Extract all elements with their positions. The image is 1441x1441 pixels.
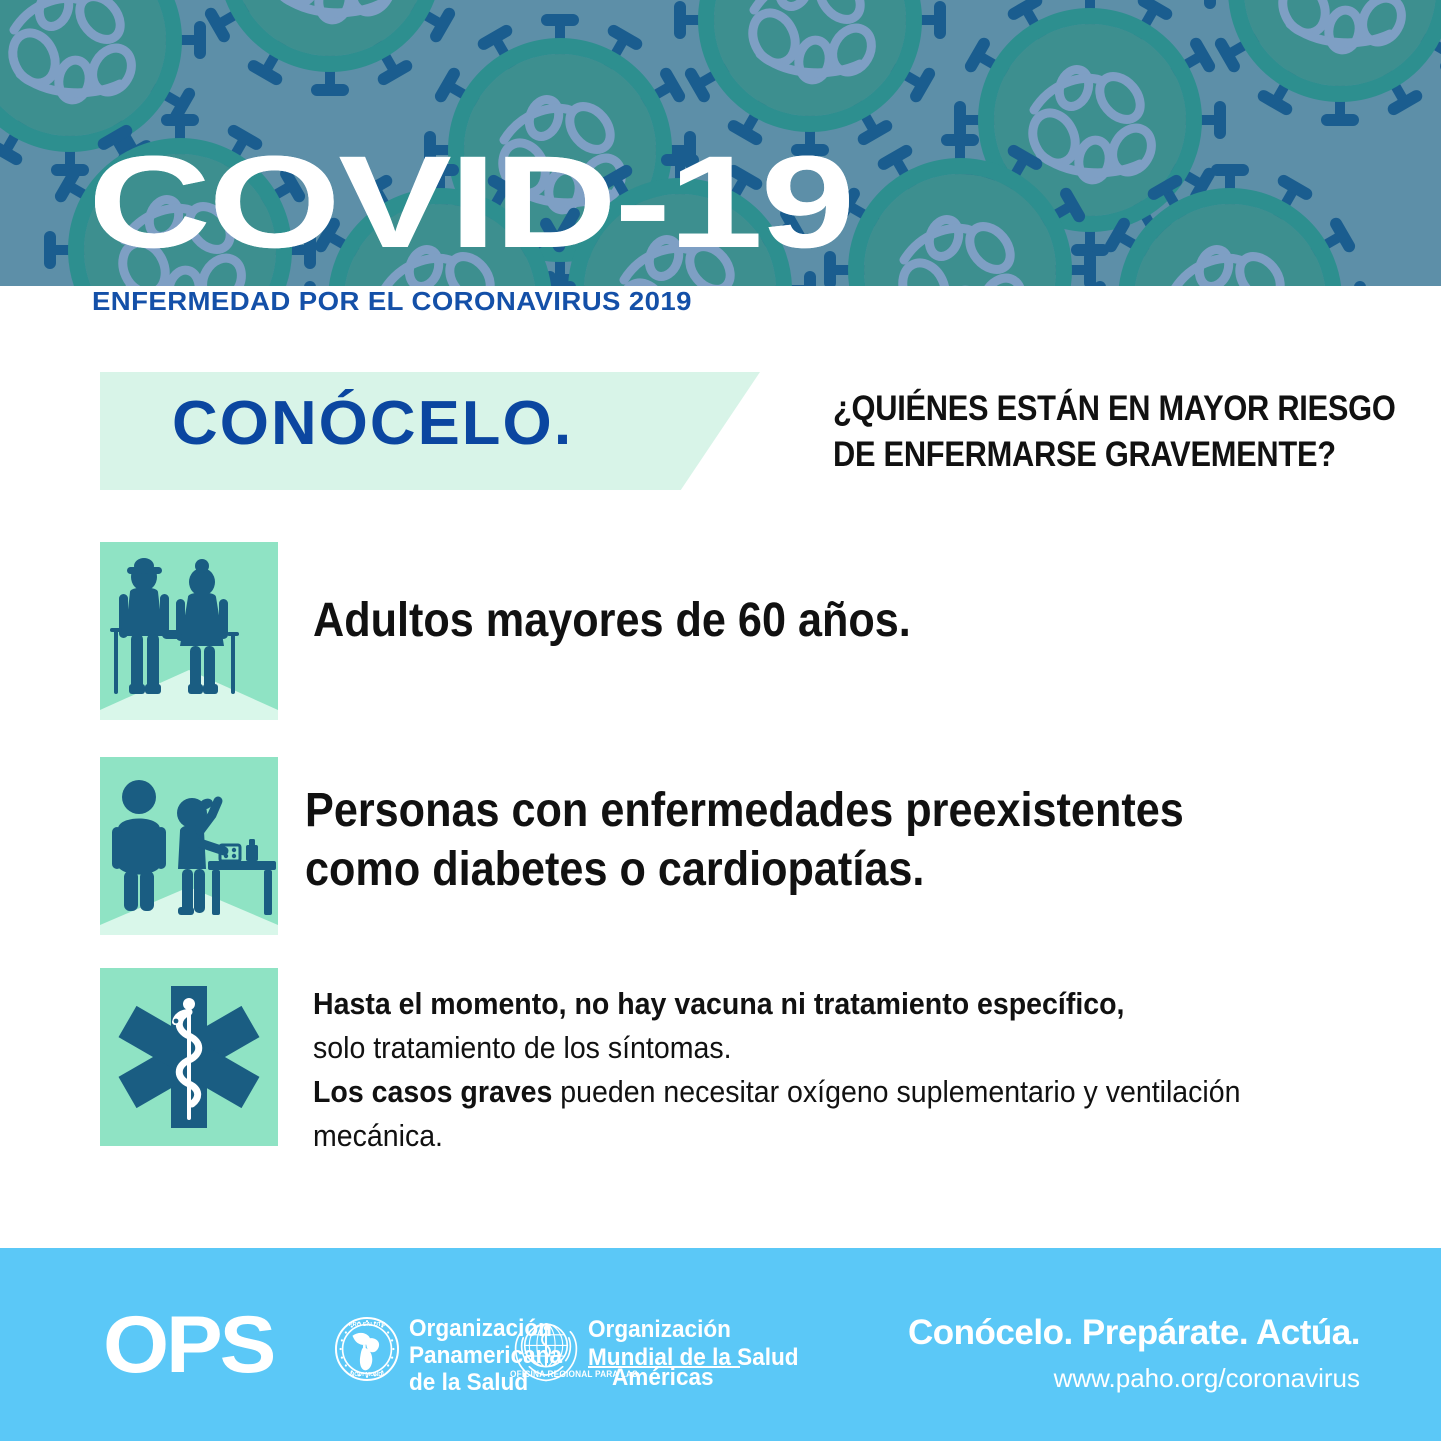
- who-organization-name: Organización Mundial de la Salud: [588, 1316, 799, 1371]
- conocelo-label: CONÓCELO.: [172, 393, 573, 455]
- page-title: COVID-19: [88, 136, 853, 267]
- page-subtitle: ENFERMEDAD POR EL CORONAVIRUS 2019: [92, 288, 692, 314]
- row-3-line1: Hasta el momento, no hay vacuna ni trata…: [313, 982, 1441, 1026]
- star-of-life-tile: [100, 968, 278, 1146]
- paho-seal-bottom-motto: NOVI MUNDI: [350, 1372, 384, 1378]
- row-2-text: Personas con enfermedades preexistentes …: [305, 782, 1313, 899]
- row-2-line1: Personas con enfermedades preexistentes: [305, 782, 1313, 841]
- infographic-poster: COVID-19 ENFERMEDAD POR EL CORONAVIRUS 2…: [0, 0, 1441, 1441]
- row-1-text: Adultos mayores de 60 años.: [313, 595, 1123, 648]
- row-3-line2: solo tratamiento de los síntomas.: [313, 1026, 1441, 1070]
- risk-question: ¿QUIÉNES ESTÁN EN MAYOR RIESGO DE ENFERM…: [833, 386, 1326, 477]
- risk-question-line1: ¿QUIÉNES ESTÁN EN MAYOR RIESGO: [833, 386, 1326, 432]
- row-3-line3: Los casos graves pueden necesitar oxígen…: [313, 1070, 1441, 1114]
- row-2-line2: como diabetes o cardiopatías.: [305, 841, 1313, 900]
- preexisting-conditions-icon: [100, 757, 278, 935]
- star-of-life-icon: [100, 968, 278, 1146]
- paho-seal-icon: PRO SALUTE NOVI MUNDI: [334, 1316, 400, 1382]
- ops-wordmark: OPS: [103, 1305, 273, 1386]
- footer-slogan: Conócelo. Prepárate. Actúa.: [840, 1315, 1360, 1350]
- paho-seal-top-motto: PRO SALUTE: [349, 1322, 385, 1328]
- who-name-line1: Organización: [588, 1316, 799, 1344]
- row-3-text: Hasta el momento, no hay vacuna ni trata…: [313, 982, 1441, 1158]
- row-3-line4: mecánica.: [313, 1114, 1441, 1158]
- who-americas-label: Américas: [612, 1366, 714, 1390]
- risk-question-line2: DE ENFERMARSE GRAVEMENTE?: [833, 432, 1326, 478]
- elderly-couple-tile: [100, 542, 278, 720]
- preexisting-conditions-tile: [100, 757, 278, 935]
- elderly-couple-icon: [100, 542, 278, 720]
- paho-coronavirus-url[interactable]: www.paho.org/coronavirus: [840, 1365, 1360, 1391]
